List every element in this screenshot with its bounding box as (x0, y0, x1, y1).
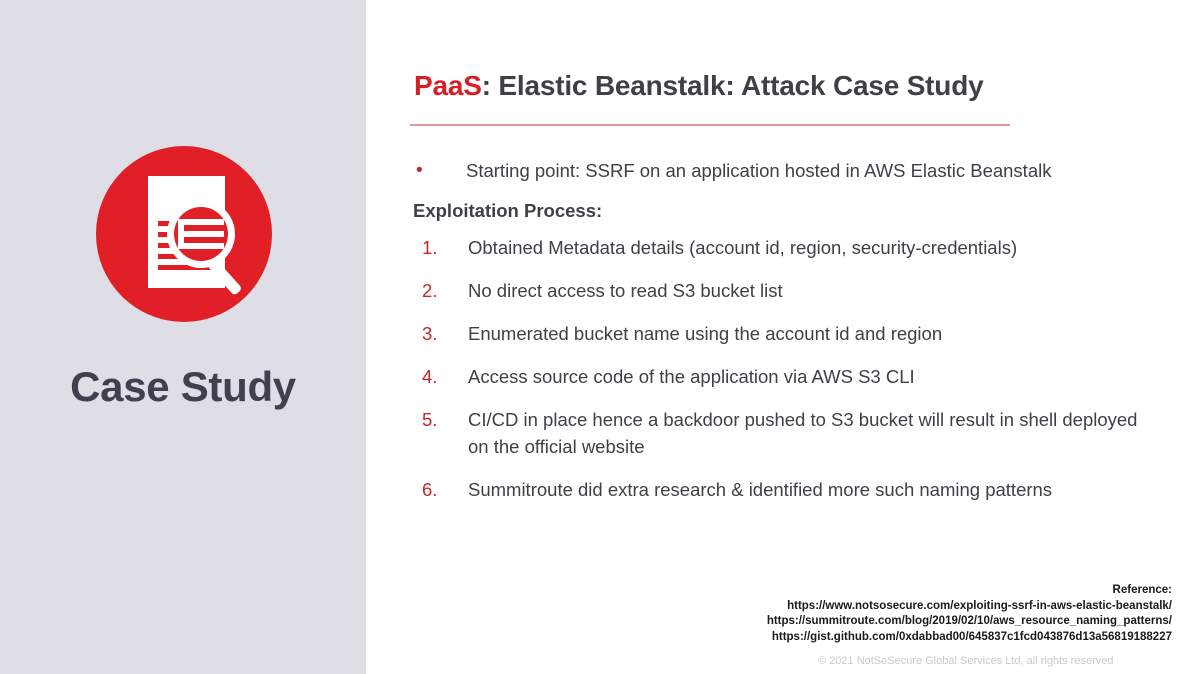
case-study-icon-wrap (96, 146, 272, 322)
list-item-marker: 6. (410, 476, 468, 503)
list-item: 6. Summitroute did extra research & iden… (410, 476, 1190, 503)
page-title-accent: PaaS (414, 70, 482, 101)
page-title-rest: : Elastic Beanstalk: Attack Case Study (482, 70, 984, 101)
list-item-text: CI/CD in place hence a backdoor pushed t… (468, 406, 1148, 460)
list-item-text: Access source code of the application vi… (468, 363, 915, 390)
title-divider (410, 124, 1010, 126)
document-magnifier-icon (96, 146, 272, 322)
intro-bullet: • Starting point: SSRF on an application… (410, 158, 1180, 184)
list-item-text: Enumerated bucket name using the account… (468, 320, 942, 347)
list-item: 4. Access source code of the application… (410, 363, 1190, 390)
footer-copyright: © 2021 NotSoSecure Global Services Ltd, … (818, 655, 1113, 667)
list-item-marker: 1. (410, 234, 468, 261)
bullet-marker-icon: • (410, 158, 466, 184)
left-panel: Case Study (0, 0, 366, 674)
list-item-text: Obtained Metadata details (account id, r… (468, 234, 1017, 261)
list-item-marker: 4. (410, 363, 468, 390)
slide-content: PaaS: Elastic Beanstalk: Attack Case Stu… (366, 0, 1200, 674)
exploitation-steps-list: 1. Obtained Metadata details (account id… (410, 234, 1190, 519)
slide: Case Study PaaS: Elastic Beanstalk: Atta… (0, 0, 1200, 674)
list-item: 5. CI/CD in place hence a backdoor pushe… (410, 406, 1190, 460)
list-item-marker: 2. (410, 277, 468, 304)
intro-bullet-text: Starting point: SSRF on an application h… (466, 158, 1051, 184)
reference-link[interactable]: https://gist.github.com/0xdabbad00/64583… (767, 630, 1172, 646)
case-study-label: Case Study (0, 363, 366, 411)
section-heading: Exploitation Process: (413, 200, 602, 222)
list-item-marker: 3. (410, 320, 468, 347)
reference-link[interactable]: https://summitroute.com/blog/2019/02/10/… (767, 614, 1172, 630)
list-item: 2. No direct access to read S3 bucket li… (410, 277, 1190, 304)
list-item-marker: 5. (410, 406, 468, 433)
list-item: 1. Obtained Metadata details (account id… (410, 234, 1190, 261)
list-item-text: Summitroute did extra research & identif… (468, 476, 1052, 503)
page-title: PaaS: Elastic Beanstalk: Attack Case Stu… (414, 70, 983, 102)
reference-block: Reference: https://www.notsosecure.com/e… (767, 583, 1172, 645)
document-magnifier-glyph (96, 146, 272, 322)
list-item: 3. Enumerated bucket name using the acco… (410, 320, 1190, 347)
reference-label: Reference: (767, 583, 1172, 599)
list-item-text: No direct access to read S3 bucket list (468, 277, 783, 304)
reference-link[interactable]: https://www.notsosecure.com/exploiting-s… (767, 599, 1172, 615)
